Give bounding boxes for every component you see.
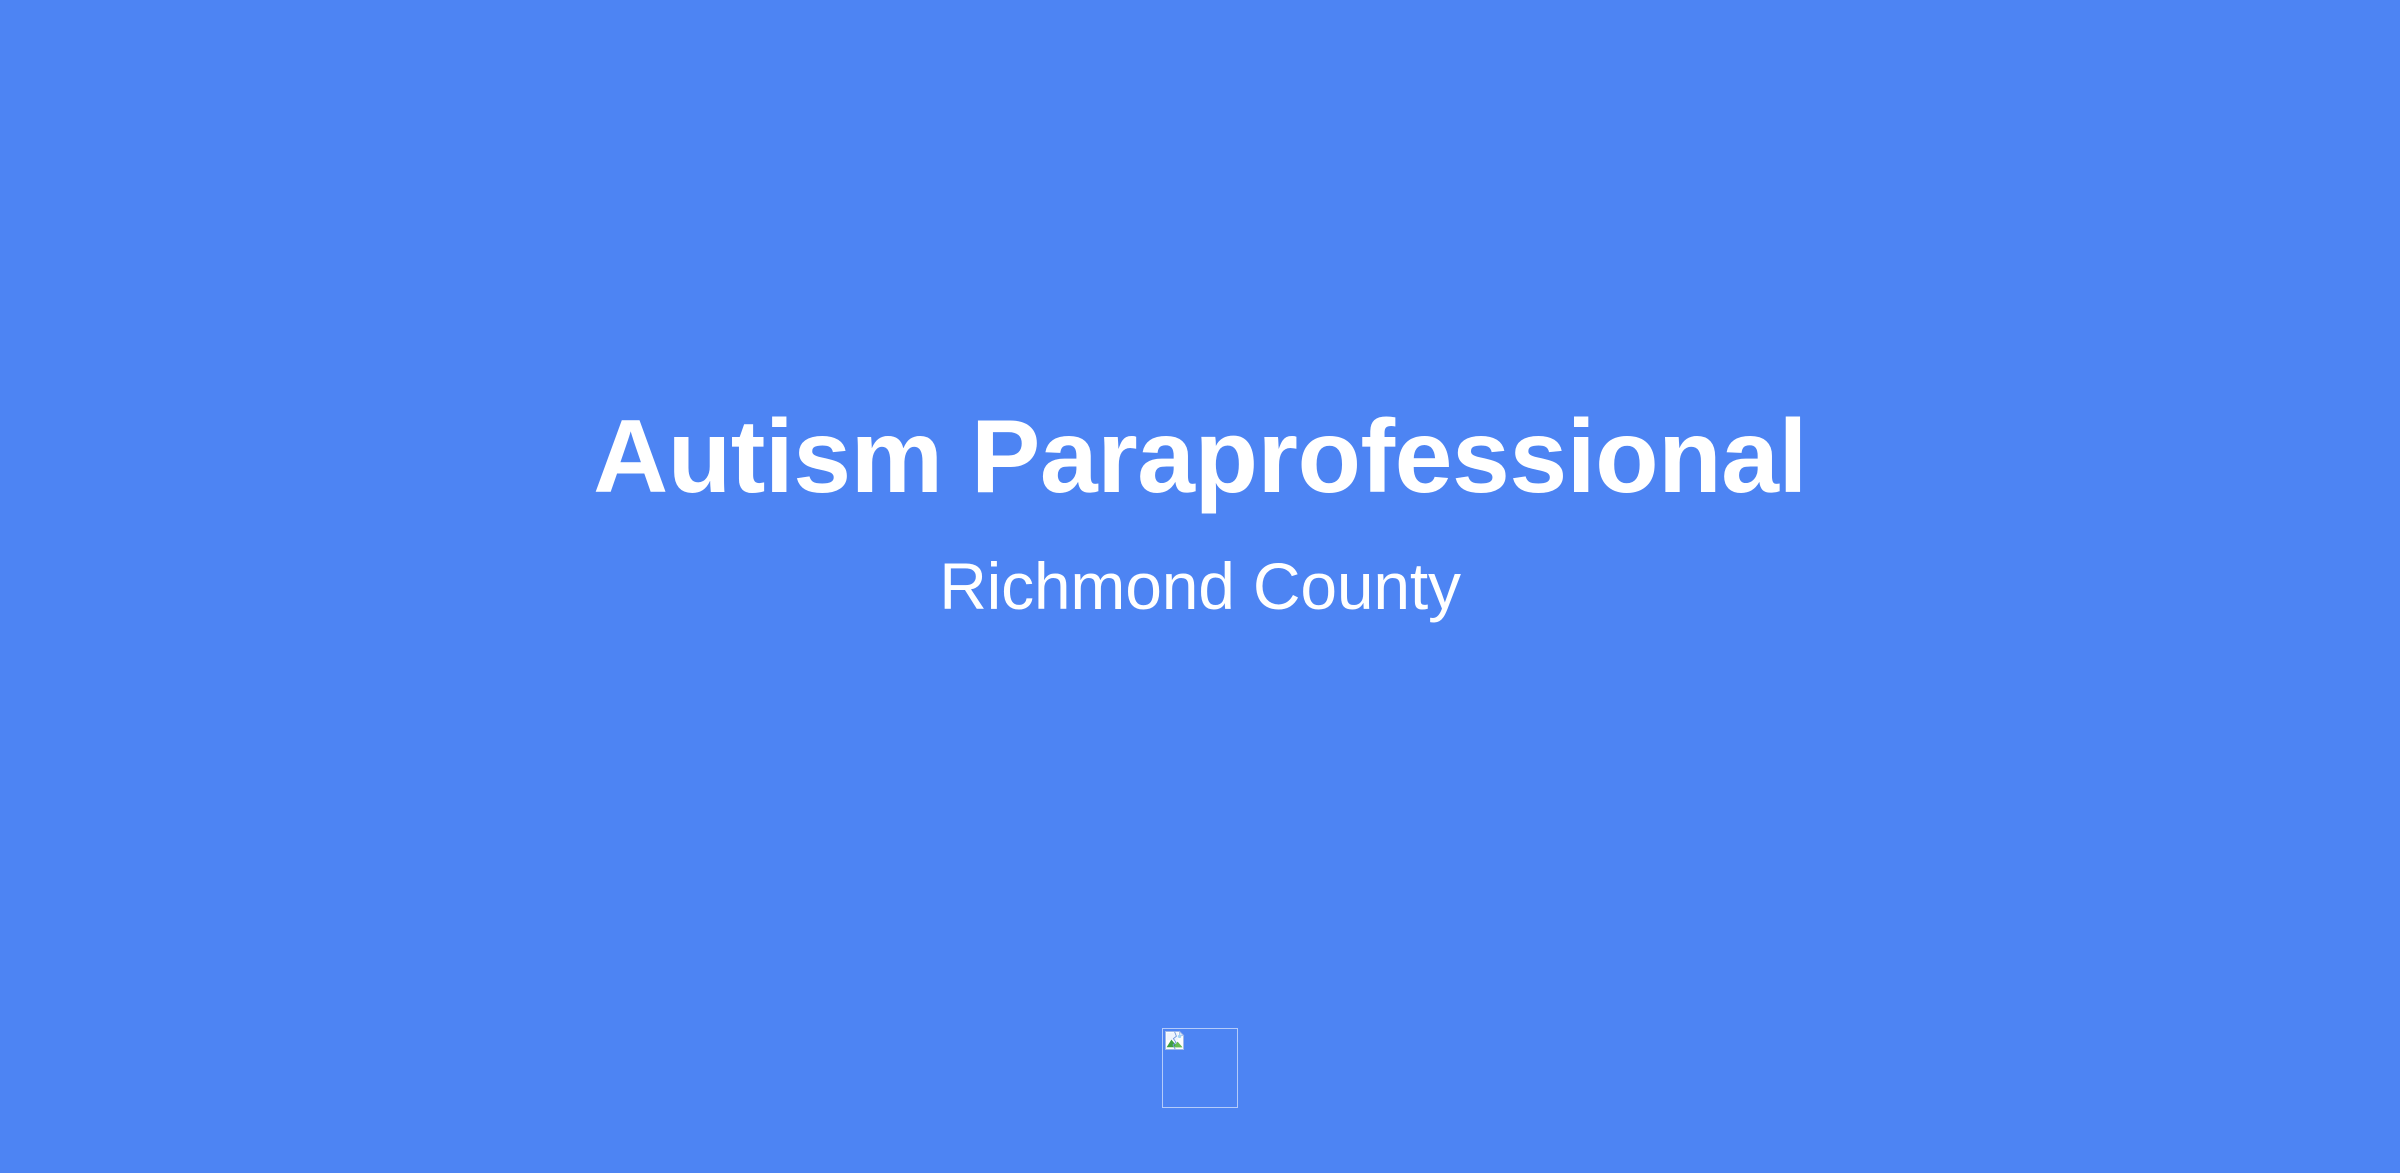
broken-image-icon xyxy=(1164,1030,1186,1052)
page-subtitle: Richmond County xyxy=(0,549,2400,625)
title-slide: Autism Paraprofessional Richmond County xyxy=(0,0,2400,1173)
media-slot xyxy=(1162,1028,1238,1108)
page-title: Autism Paraprofessional xyxy=(0,398,2400,518)
broken-image-placeholder[interactable] xyxy=(1162,1028,1238,1108)
